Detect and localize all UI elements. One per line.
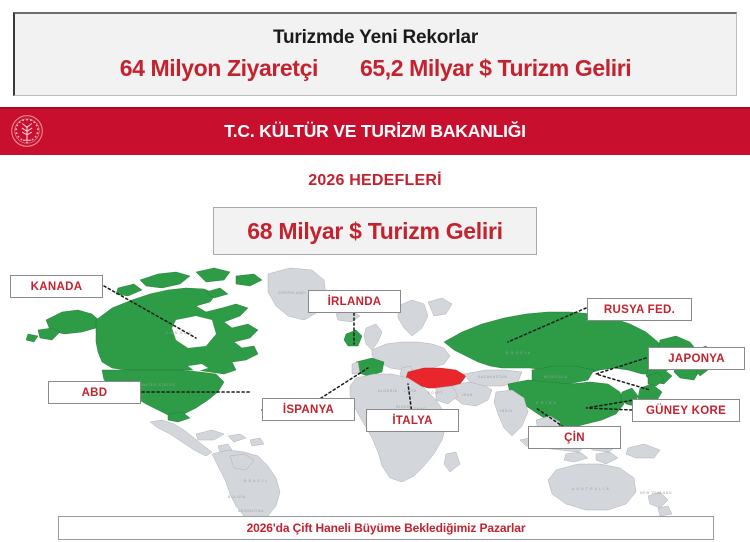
- map-region-label: BOLIVIA: [228, 495, 246, 499]
- target-revenue-box: 68 Milyar $ Turizm Geliri: [213, 207, 537, 255]
- stat-revenue: 65,2 Milyar $ Turizm Geliri: [360, 55, 631, 82]
- map-callout-kanada[interactable]: KANADA: [10, 275, 103, 298]
- map-region-label: MONGOLIA: [544, 375, 568, 379]
- stat-visitors: 64 Milyon Ziyaretçi: [120, 55, 318, 82]
- map-region-label: NEW ZEALAND: [640, 491, 672, 495]
- map-callout-label: RUSYA FED.: [604, 304, 675, 316]
- bottom-banner: 2026'da Çift Haneli Büyüme Beklediğimiz …: [58, 516, 714, 540]
- map-callout-label: KANADA: [31, 281, 83, 293]
- ministry-banner: T.C. KÜLTÜR VE TURİZM BAKANLIĞI: [0, 107, 750, 155]
- targets-heading: 2026 HEDEFLERİ: [0, 172, 750, 190]
- map-callout-cin[interactable]: ÇİN: [528, 426, 621, 449]
- map-region-label: A U S T R A L I A: [572, 487, 609, 491]
- map-callout-japonya[interactable]: JAPONYA: [648, 347, 745, 370]
- map-region-label: B R A Z I L: [244, 479, 268, 483]
- map-callout-label: İRLANDA: [328, 296, 382, 308]
- map-callout-label: ABD: [82, 387, 108, 399]
- map-callout-rusya[interactable]: RUSYA FED.: [587, 298, 692, 321]
- turkish-republic-emblem-icon: [10, 114, 44, 148]
- map-callout-irlanda[interactable]: İRLANDA: [308, 290, 401, 313]
- map-callout-label: GÜNEY KORE: [646, 405, 726, 417]
- map-callout-label: İTALYA: [392, 415, 432, 427]
- map-region-label: C H I N A: [536, 401, 556, 405]
- map-region-label: INDIA: [500, 409, 513, 413]
- map-region-label: UNITED STATES: [140, 383, 175, 387]
- map-region-label: IRAN: [462, 393, 473, 397]
- slide-canvas: Turizmde Yeni Rekorlar 64 Milyon Ziyaret…: [0, 0, 750, 542]
- target-revenue-value: 68 Milyar $ Turizm Geliri: [247, 218, 502, 245]
- map-region-label: LIBYA: [404, 389, 417, 393]
- map-callout-abd[interactable]: ABD: [48, 381, 141, 404]
- ministry-banner-title: T.C. KÜLTÜR VE TURİZM BAKANLIĞI: [0, 121, 750, 142]
- map-callout-label: ÇİN: [564, 432, 585, 444]
- map-region-label: ARGENTINA: [238, 509, 264, 513]
- map-callout-guney-kore[interactable]: GÜNEY KORE: [632, 399, 740, 422]
- map-region-label: EGYPT: [428, 391, 443, 395]
- bottom-banner-label: 2026'da Çift Haneli Büyüme Beklediğimiz …: [247, 521, 526, 535]
- map-callout-italya[interactable]: İTALYA: [366, 409, 459, 432]
- map-callout-ispanya[interactable]: İSPANYA: [262, 398, 355, 421]
- map-callout-label: JAPONYA: [668, 353, 725, 365]
- header-stats-row: 64 Milyon Ziyaretçi 65,2 Milyar $ Turizm…: [120, 55, 631, 82]
- map-region-label: KAZAKHSTAN: [478, 375, 507, 379]
- map-region-label: GREENLAND: [278, 291, 305, 295]
- page-title: Turizmde Yeni Rekorlar: [273, 27, 478, 49]
- record-stats-header: Turizmde Yeni Rekorlar 64 Milyon Ziyaret…: [13, 12, 737, 96]
- map-region-label: ALGERIA: [378, 389, 398, 393]
- map-callout-label: İSPANYA: [283, 404, 334, 416]
- map-region-label: R U S S I A: [506, 351, 531, 355]
